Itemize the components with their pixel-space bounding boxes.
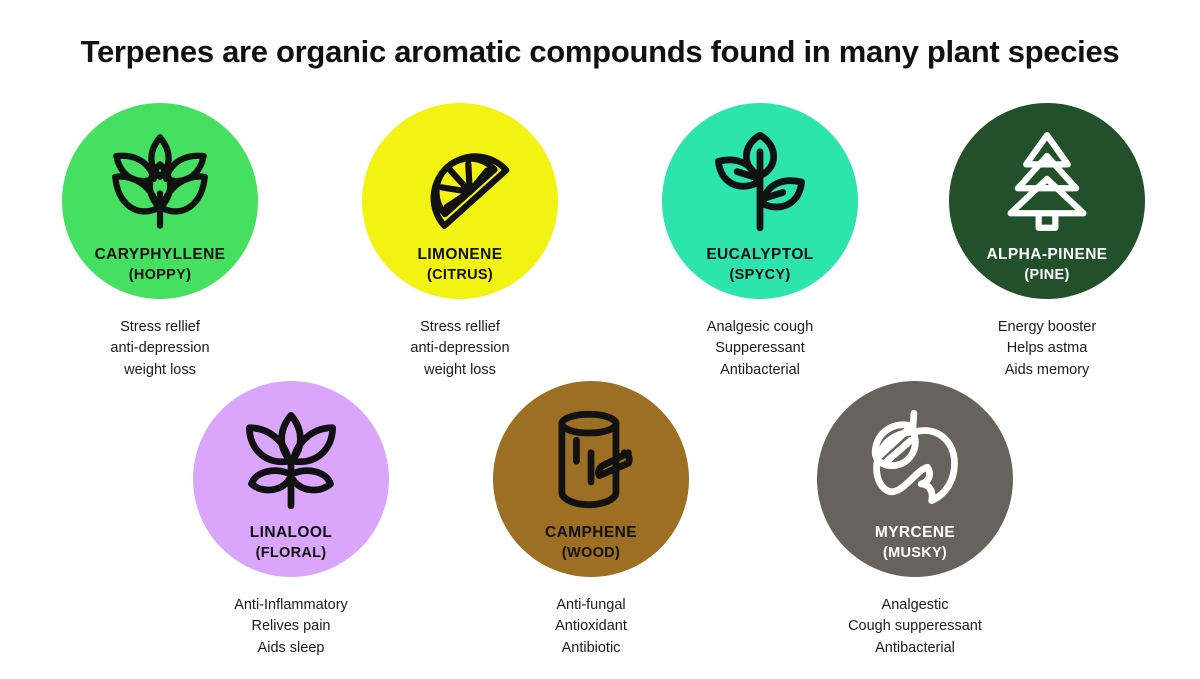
terpene-aroma: (CITRUS) [362, 266, 558, 284]
effect-line: Stress rellief [345, 317, 575, 338]
terpene-card-caryphyllene: CARYPHYLLENE (HOPPY) Stress rellief anti… [45, 103, 275, 381]
terpene-badge-camphene: CAMPHENE (WOOD) [493, 381, 689, 577]
effect-line: Cough supperessant [800, 616, 1030, 637]
effect-line: anti-depression [345, 338, 575, 359]
hop-flower-icon [108, 129, 212, 233]
terpene-effects: Analgesic cough Supperessant Antibacteri… [645, 317, 875, 381]
effect-line: Antibiotic [476, 638, 706, 659]
terpene-aroma: (FLORAL) [193, 544, 389, 562]
terpene-aroma: (WOOD) [493, 544, 689, 562]
effect-line: weight loss [345, 360, 575, 381]
effect-line: Antioxidant [476, 616, 706, 637]
mango-fruit-icon [863, 407, 967, 511]
terpene-name: ALPHA-PINENE [949, 245, 1145, 264]
terpene-badge-limonene: LIMONENE (CITRUS) [362, 103, 558, 299]
wood-log-icon [539, 407, 643, 511]
terpene-card-alpha-pinene: ALPHA-PINENE (PINE) Energy booster Helps… [932, 103, 1162, 381]
terpene-card-linalool: LINALOOL (FLORAL) Anti-Inflammatory Reli… [176, 381, 406, 659]
effect-line: Relives pain [176, 616, 406, 637]
terpene-effects: Stress rellief anti-depression weight lo… [345, 317, 575, 381]
eucalyptus-leaf-icon [708, 129, 812, 233]
terpene-badge-eucalyptol: EUCALYPTOL (SPYCY) [662, 103, 858, 299]
effect-line: Anti-Inflammatory [176, 595, 406, 616]
effect-line: Energy booster [932, 317, 1162, 338]
citrus-wedge-icon [408, 129, 512, 233]
terpene-badge-linalool: LINALOOL (FLORAL) [193, 381, 389, 577]
terpene-aroma: (SPYCY) [662, 266, 858, 284]
terpene-name: CARYPHYLLENE [62, 245, 258, 264]
tulip-flower-icon [239, 407, 343, 511]
terpene-name: MYRCENE [817, 523, 1013, 542]
effect-line: Anti-fungal [476, 595, 706, 616]
effect-line: Aids memory [932, 360, 1162, 381]
effect-line: Helps astma [932, 338, 1162, 359]
terpene-name: LIMONENE [362, 245, 558, 264]
terpene-card-camphene: CAMPHENE (WOOD) Anti-fungal Antioxidant … [476, 381, 706, 659]
terpene-name: EUCALYPTOL [662, 245, 858, 264]
terpenes-infographic: Terpenes are organic aromatic compounds … [0, 0, 1200, 679]
terpene-effects: Analgestic Cough supperessant Antibacter… [800, 595, 1030, 659]
terpene-effects: Stress rellief anti-depression weight lo… [45, 317, 275, 381]
terpene-card-myrcene: MYRCENE (MUSKY) Analgestic Cough suppere… [800, 381, 1030, 659]
terpene-card-eucalyptol: EUCALYPTOL (SPYCY) Analgesic cough Suppe… [645, 103, 875, 381]
terpene-effects: Anti-fungal Antioxidant Antibiotic [476, 595, 706, 659]
pine-tree-icon [995, 129, 1099, 233]
terpene-name: LINALOOL [193, 523, 389, 542]
effect-line: Analgestic [800, 595, 1030, 616]
effect-line: weight loss [45, 360, 275, 381]
effect-line: Aids sleep [176, 638, 406, 659]
terpene-aroma: (HOPPY) [62, 266, 258, 284]
effect-line: Analgesic cough [645, 317, 875, 338]
effect-line: Antibacterial [800, 638, 1030, 659]
effect-line: anti-depression [45, 338, 275, 359]
terpene-badge-caryphyllene: CARYPHYLLENE (HOPPY) [62, 103, 258, 299]
terpene-effects: Anti-Inflammatory Relives pain Aids slee… [176, 595, 406, 659]
terpene-aroma: (PINE) [949, 266, 1145, 284]
terpene-aroma: (MUSKY) [817, 544, 1013, 562]
terpene-name: CAMPHENE [493, 523, 689, 542]
effect-line: Antibacterial [645, 360, 875, 381]
terpene-badge-myrcene: MYRCENE (MUSKY) [817, 381, 1013, 577]
terpene-effects: Energy booster Helps astma Aids memory [932, 317, 1162, 381]
terpene-card-limonene: LIMONENE (CITRUS) Stress rellief anti-de… [345, 103, 575, 381]
effect-line: Stress rellief [45, 317, 275, 338]
page-title: Terpenes are organic aromatic compounds … [0, 34, 1200, 70]
effect-line: Supperessant [645, 338, 875, 359]
terpene-badge-alpha-pinene: ALPHA-PINENE (PINE) [949, 103, 1145, 299]
